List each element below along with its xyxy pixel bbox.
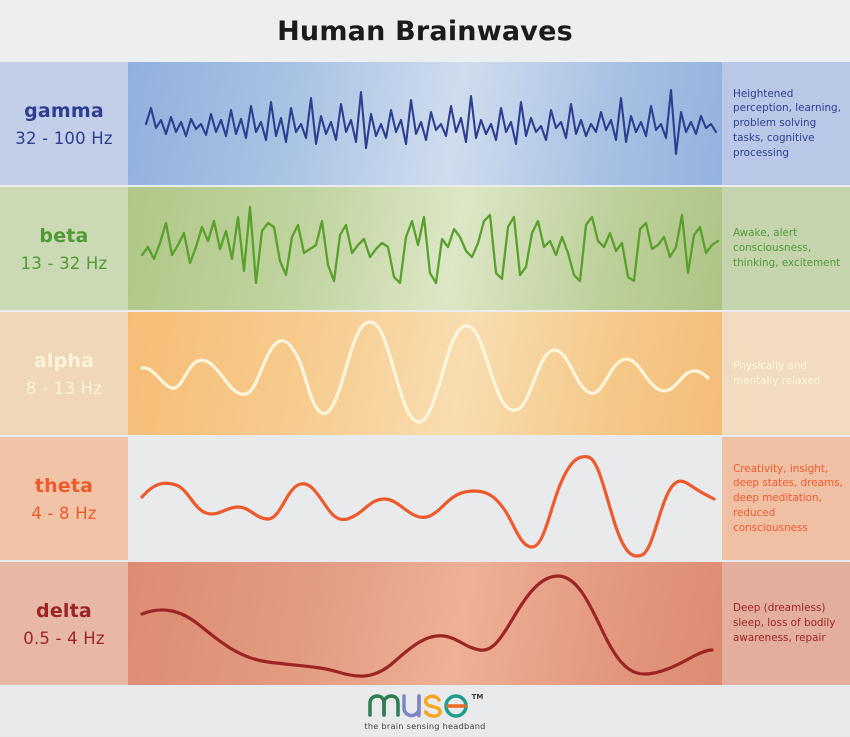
waveform-alpha (128, 312, 722, 435)
band-label-beta: beta 13 - 32 Hz (0, 187, 128, 310)
band-range: 0.5 - 4 Hz (23, 629, 105, 648)
brainwave-row-beta: beta 13 - 32 Hz Awake, alert consciousne… (0, 187, 850, 310)
waveform-delta-line (142, 576, 712, 676)
band-range: 8 - 13 Hz (26, 379, 102, 398)
waveform-delta (128, 562, 722, 685)
band-name: alpha (34, 350, 94, 372)
band-name: theta (35, 475, 93, 497)
waveform-delta-svg (128, 562, 722, 685)
band-name: beta (39, 225, 88, 247)
band-range: 13 - 32 Hz (21, 254, 108, 273)
description-delta: Deep (dreamless) sleep, loss of bodily a… (722, 562, 850, 685)
waveform-alpha-line (142, 322, 708, 422)
waveform-theta-svg (128, 437, 722, 560)
band-range: 4 - 8 Hz (31, 504, 96, 523)
waveform-gamma (128, 62, 722, 185)
trademark-symbol: TM (472, 693, 484, 701)
waveform-gamma-line (146, 90, 716, 154)
page-title: Human Brainwaves (277, 16, 573, 47)
band-label-gamma: gamma 32 - 100 Hz (0, 62, 128, 185)
muse-wordmark-icon (367, 692, 471, 719)
brainwave-rows: gamma 32 - 100 Hz Heightened perception,… (0, 62, 850, 685)
waveform-beta-svg (128, 187, 722, 310)
band-label-alpha: alpha 8 - 13 Hz (0, 312, 128, 435)
description-text: Awake, alert consciousness, thinking, ex… (733, 226, 844, 270)
band-range: 32 - 100 Hz (15, 129, 112, 148)
waveform-beta-line (142, 207, 718, 283)
description-alpha: Physically and mentally relaxed (722, 312, 850, 435)
title-bar: Human Brainwaves (0, 0, 850, 62)
brainwave-row-theta: theta 4 - 8 Hz Creativity, insight, deep… (0, 437, 850, 560)
description-theta: Creativity, insight, deep states, dreams… (722, 437, 850, 560)
waveform-beta (128, 187, 722, 310)
description-text: Physically and mentally relaxed (733, 359, 844, 389)
footer: TM the brain sensing headband (0, 687, 850, 736)
description-gamma: Heightened perception, learning, problem… (722, 62, 850, 185)
description-text: Heightened perception, learning, problem… (733, 87, 844, 161)
band-label-delta: delta 0.5 - 4 Hz (0, 562, 128, 685)
brainwave-row-alpha: alpha 8 - 13 Hz Physically and mentally … (0, 312, 850, 435)
waveform-alpha-svg (128, 312, 722, 435)
band-label-theta: theta 4 - 8 Hz (0, 437, 128, 560)
waveform-theta (128, 437, 722, 560)
brainwave-row-gamma: gamma 32 - 100 Hz Heightened perception,… (0, 62, 850, 185)
brainwave-row-delta: delta 0.5 - 4 Hz Deep (dreamless) sleep,… (0, 562, 850, 685)
infographic-page: Human Brainwaves gamma 32 - 100 Hz Heigh… (0, 0, 850, 737)
muse-tagline: the brain sensing headband (364, 721, 485, 731)
description-beta: Awake, alert consciousness, thinking, ex… (722, 187, 850, 310)
band-name: gamma (24, 100, 104, 122)
waveform-gamma-svg (128, 62, 722, 185)
waveform-theta-line (142, 457, 714, 556)
muse-logo[interactable]: TM (367, 692, 484, 719)
description-text: Creativity, insight, deep states, dreams… (733, 462, 844, 536)
description-text: Deep (dreamless) sleep, loss of bodily a… (733, 601, 844, 645)
band-name: delta (36, 600, 92, 622)
